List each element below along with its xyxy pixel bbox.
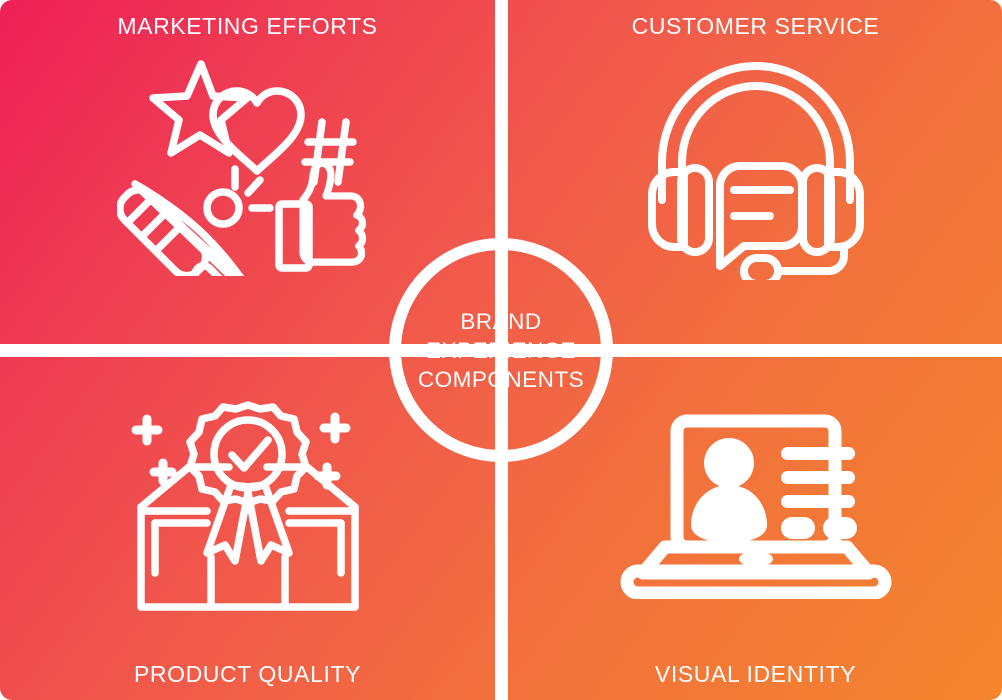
headset-chat-support-icon: [508, 50, 1002, 280]
infographic-canvas: MARKETING EFFORTS: [0, 0, 1002, 700]
laptop-profile-card-icon: [508, 413, 1002, 599]
center-hub-circle[interactable]: BRAND EXPERIENCE COMPONENTS: [389, 238, 613, 462]
center-hub-line-3: COMPONENTS: [418, 365, 584, 394]
center-hub-line-2: EXPERIENCE: [418, 336, 584, 365]
center-hub-title: BRAND EXPERIENCE COMPONENTS: [418, 307, 584, 394]
quadrant-label-marketing-efforts: MARKETING EFFORTS: [0, 13, 495, 40]
quadrant-label-product-quality: PRODUCT QUALITY: [0, 661, 495, 688]
quadrant-label-visual-identity: VISUAL IDENTITY: [508, 661, 1002, 688]
center-hub-line-1: BRAND: [418, 307, 584, 336]
quadrant-label-customer-service: CUSTOMER SERVICE: [508, 13, 1002, 40]
megaphone-star-heart-hashtag-thumbsup-icon: [0, 56, 495, 276]
